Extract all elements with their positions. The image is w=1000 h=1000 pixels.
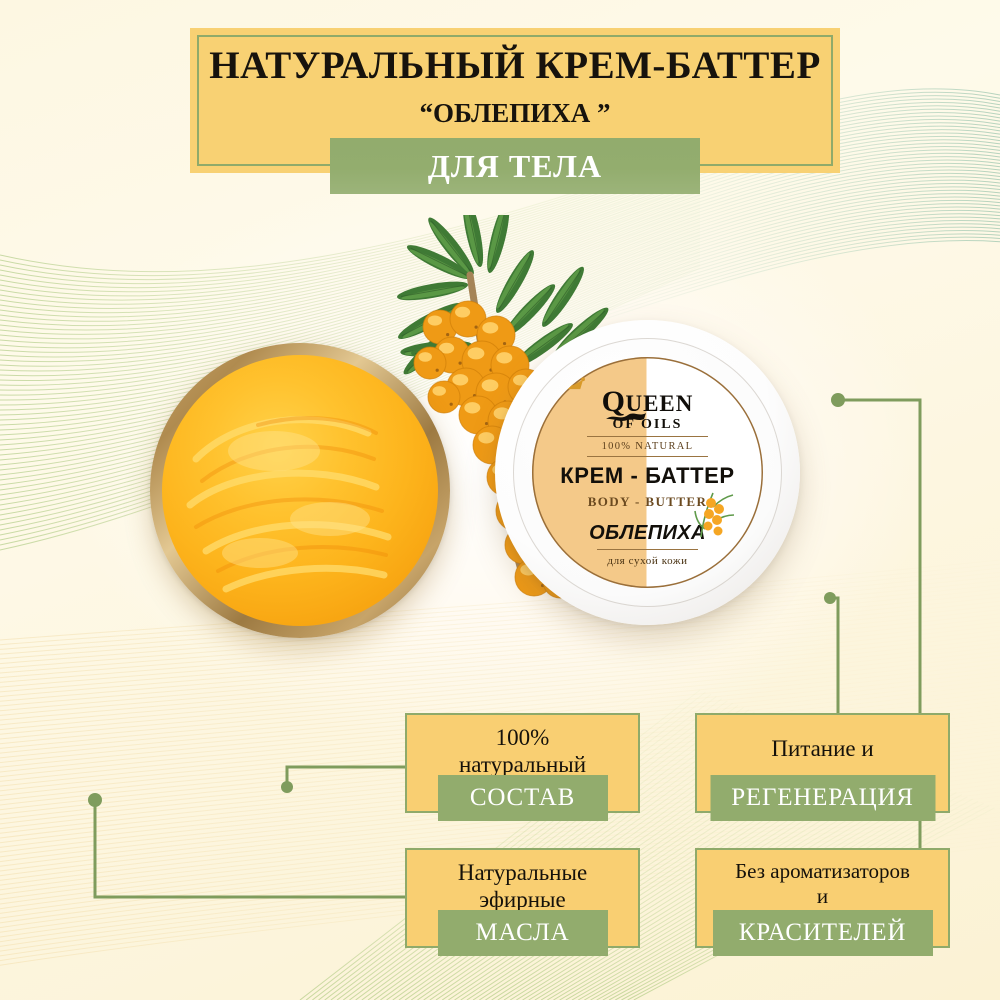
label-berry-icon xyxy=(691,487,737,543)
product-skin-type: для сухой кожи xyxy=(532,555,763,567)
natural-claim: 100% NATURAL xyxy=(532,441,763,452)
feature-description: 100%натуральный xyxy=(407,724,638,778)
feature-keyword: КРАСИТЕЛЕЙ xyxy=(739,919,906,947)
feature-card-oils[interactable]: Натуральныеэфирные МАСЛА xyxy=(405,848,640,958)
feature-green-tag: РЕГЕНЕРАЦИЯ xyxy=(710,775,935,821)
brand-tagline: OF OILS xyxy=(532,417,763,433)
bowl-cream xyxy=(162,355,438,626)
feature-description: Питание и xyxy=(697,735,948,762)
poster-canvas: НАТУРАЛЬНЫЙ КРЕМ-БАТТЕР “ОБЛЕПИХА ” ДЛЯ … xyxy=(0,0,1000,1000)
feature-green-tag: СОСТАВ xyxy=(438,775,608,821)
feature-card-composition[interactable]: 100%натуральный СОСТАВ xyxy=(405,713,640,823)
feature-description: Без ароматизаторови xyxy=(697,859,948,909)
page-title: НАТУРАЛЬНЫЙ КРЕМ-БАТТЕР xyxy=(190,46,840,85)
feature-keyword: РЕГЕНЕРАЦИЯ xyxy=(731,784,914,812)
feature-keyword: СОСТАВ xyxy=(470,784,575,812)
page-subtitle: “ОБЛЕПИХА ” xyxy=(190,100,840,127)
jar-label: QUEEN OF OILS 100% NATURAL КРЕМ - БАТТЕР… xyxy=(532,357,763,588)
for-body-band: ДЛЯ ТЕЛА xyxy=(330,138,700,194)
cream-bowl xyxy=(150,343,450,638)
product-name-ru: КРЕМ - БАТТЕР xyxy=(532,463,763,489)
brand-name: QUEEN xyxy=(532,387,763,417)
feature-description: Натуральныеэфирные xyxy=(407,859,638,913)
feature-keyword: МАСЛА xyxy=(475,919,569,947)
product-jar: QUEEN OF OILS 100% NATURAL КРЕМ - БАТТЕР… xyxy=(495,320,800,625)
feature-card-regeneration[interactable]: Питание и РЕГЕНЕРАЦИЯ xyxy=(695,713,950,823)
product-photo: QUEEN OF OILS 100% NATURAL КРЕМ - БАТТЕР… xyxy=(120,215,880,685)
feature-green-tag: МАСЛА xyxy=(438,910,608,956)
feature-green-tag: КРАСИТЕЛЕЙ xyxy=(713,910,933,956)
feature-card-no-additives[interactable]: Без ароматизаторови КРАСИТЕЛЕЙ xyxy=(695,848,950,958)
for-body-label: ДЛЯ ТЕЛА xyxy=(428,148,602,185)
